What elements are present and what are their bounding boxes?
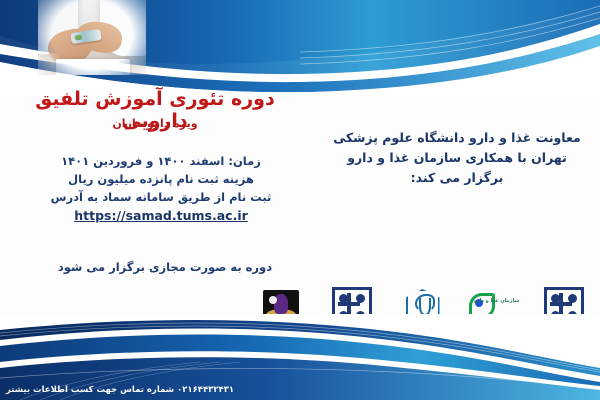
pharmacist-photo (38, 0, 146, 75)
poster-subtitle: ویژه داروسازان (0, 117, 310, 130)
virtual-course-note: دوره به صورت مجازی برگزار می شود (0, 260, 330, 274)
organizer-line-3: برگزار می کند: (322, 168, 592, 188)
contact-label: شماره تماس جهت کسب اطلاعات بیشتر (6, 385, 174, 395)
registration-instruction: ثبت نام از طریق سامانه سماد به آدرس (0, 188, 322, 206)
contact-phone-number: ۰۲۱۶۴۴۳۲۴۳۱ (177, 385, 234, 395)
organizer-block: معاونت غذا و دارو دانشگاه علوم پزشکی تهر… (322, 128, 592, 188)
event-fee: هزینه ثبت نام پانزده میلیون ریال (0, 170, 322, 188)
organizer-line-2: تهران با همکاری سازمان غذا و دارو (322, 148, 592, 168)
contact-strip: ۰۲۱۶۴۴۳۲۴۳۱ شماره تماس جهت کسب اطلاعات ب… (6, 385, 306, 395)
organizer-line-1: معاونت غذا و دارو دانشگاه علوم پزشکی (322, 128, 592, 148)
event-details-block: زمان: اسفند ۱۴۰۰ و فروردین ۱۴۰۱ هزینه ثب… (0, 152, 322, 225)
event-date: زمان: اسفند ۱۴۰۰ و فروردین ۱۴۰۱ (0, 152, 322, 170)
registration-url-link[interactable]: https://samad.tums.ac.ir (0, 207, 322, 225)
top-banner-graphic (0, 0, 600, 96)
fdo-wordmark: سازمان غذا و دارو (474, 298, 520, 304)
poster-canvas: دوره تئوری آموزش تلفیق دارویی ویژه داروس… (0, 0, 600, 400)
photo-paper (56, 59, 130, 75)
